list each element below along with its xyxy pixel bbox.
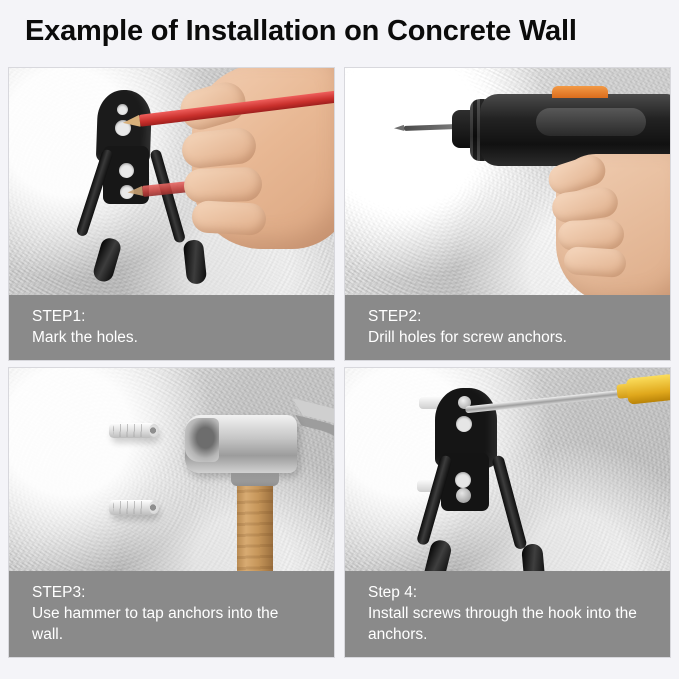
step-label-4: Step 4: (368, 582, 670, 603)
step-text-4: Install screws through the hook into the… (368, 603, 670, 645)
screwdriver-handle (626, 373, 671, 404)
finger (557, 219, 624, 251)
step-text-3: Use hammer to tap anchors into the wall. (32, 603, 334, 645)
hook-mounting-hole (456, 416, 472, 432)
step-panel-2[interactable]: STEP2: Drill holes for screw anchors. (344, 67, 671, 361)
drill-orange-accent (552, 86, 608, 98)
wall-anchor (109, 423, 157, 438)
step-label-1: STEP1: (32, 306, 334, 327)
step-caption-4: Step 4: Install screws through the hook … (345, 571, 670, 657)
page-title-bar: Example of Installation on Concrete Wall (0, 0, 679, 62)
finger (191, 200, 267, 236)
wall-anchor (109, 500, 157, 515)
steps-grid: STEP1: Mark the holes. STEP2: Drill hol (8, 67, 671, 658)
hook-mounting-hole (455, 472, 471, 488)
step-label-3: STEP3: (32, 582, 334, 603)
hook-mounting-hole (117, 104, 128, 115)
step-panel-4[interactable]: Step 4: Install screws through the hook … (344, 367, 671, 658)
hammer-striking-face (185, 418, 219, 462)
installation-guide-page: Example of Installation on Concrete Wall (0, 0, 679, 679)
finger (563, 246, 627, 278)
step-caption-3: STEP3: Use hammer to tap anchors into th… (9, 571, 334, 657)
page-title: Example of Installation on Concrete Wall (25, 15, 577, 48)
step-caption-2: STEP2: Drill holes for screw anchors. (345, 295, 670, 360)
finger (183, 167, 262, 204)
drill-body-highlight (536, 108, 646, 136)
step-caption-1: STEP1: Mark the holes. (9, 295, 334, 360)
step-panel-3[interactable]: STEP3: Use hammer to tap anchors into th… (8, 367, 335, 658)
step-label-2: STEP2: (368, 306, 670, 327)
step-text-1: Mark the holes. (32, 327, 334, 348)
screw-head-bottom (456, 488, 471, 503)
step-text-2: Drill holes for screw anchors. (368, 327, 670, 348)
step-panel-1[interactable]: STEP1: Mark the holes. (8, 67, 335, 361)
hook-mounting-hole (119, 163, 134, 178)
